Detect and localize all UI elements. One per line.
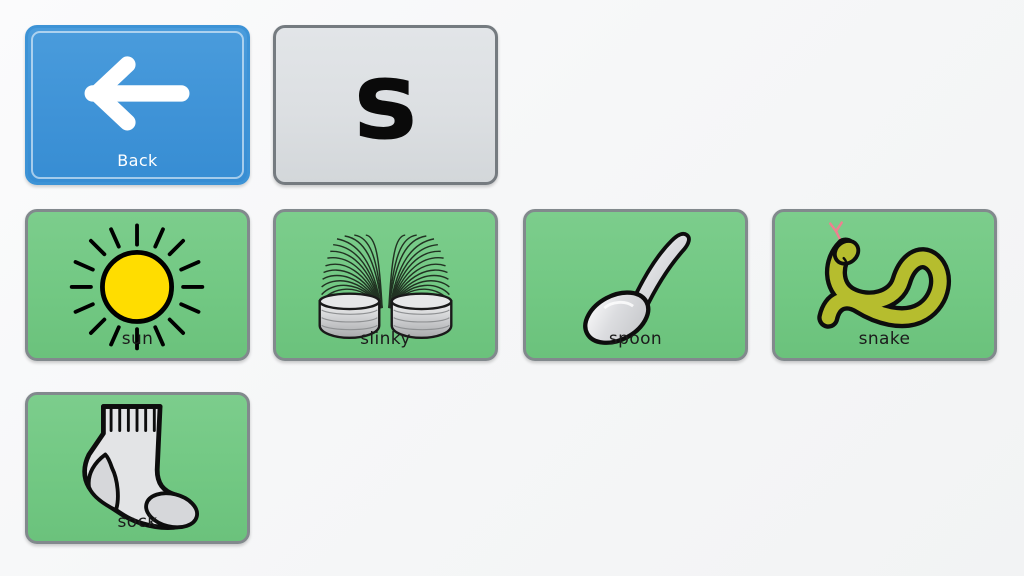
- word-card-label: sock: [28, 512, 247, 532]
- letter-card-s[interactable]: s: [273, 25, 498, 185]
- back-button-label: Back: [28, 151, 247, 170]
- phonics-card-board: Back s: [0, 0, 1024, 576]
- word-card-label: sun: [28, 329, 247, 349]
- word-card-label: spoon: [526, 329, 745, 349]
- word-card-spoon[interactable]: spoon: [523, 209, 748, 361]
- word-card-sock[interactable]: sock: [25, 392, 250, 544]
- back-button[interactable]: Back: [25, 25, 250, 185]
- word-card-slinky[interactable]: slinky: [273, 209, 498, 361]
- word-card-label: snake: [775, 329, 994, 349]
- letter-glyph: s: [276, 28, 495, 182]
- word-card-snake[interactable]: snake: [772, 209, 997, 361]
- word-card-sun[interactable]: sun: [25, 209, 250, 361]
- word-card-label: slinky: [276, 329, 495, 349]
